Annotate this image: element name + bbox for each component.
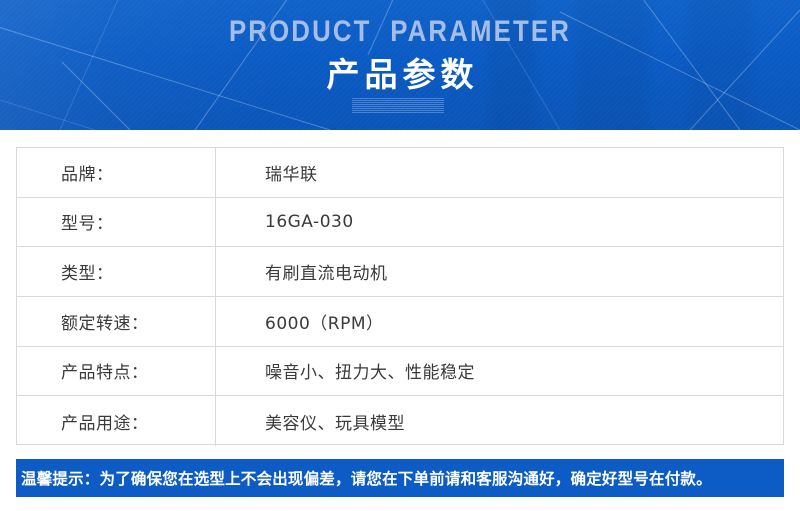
table-row: 额定转速： 6000（RPM） (17, 297, 783, 347)
banner-title-english: PRODUCT PARAMETER (56, 17, 744, 47)
spec-label: 额定转速： (17, 297, 216, 346)
table-row: 品牌： 瑞华联 (17, 148, 783, 198)
spec-value: 瑞华联 (216, 148, 783, 197)
spec-value: 有刷直流电动机 (216, 247, 783, 296)
spec-label: 产品特点： (17, 347, 216, 396)
spec-label: 类型： (17, 247, 216, 296)
table-row: 型号： 16GA-030 (17, 198, 783, 248)
product-parameter-page: PRODUCT PARAMETER 产品参数 品牌： 瑞华联 型号： 16GA-… (0, 0, 800, 511)
notice-text: 温馨提示：为了确保您在选型上不会出现偏差，请您在下单前请和客服沟通好，确定好型号… (21, 467, 712, 489)
notice-banner: 温馨提示：为了确保您在选型上不会出现偏差，请您在下单前请和客服沟通好，确定好型号… (16, 459, 784, 497)
spec-value: 美容仪、玩具模型 (216, 396, 783, 446)
table-row: 类型： 有刷直流电动机 (17, 247, 783, 297)
product-spec-table: 品牌： 瑞华联 型号： 16GA-030 类型： 有刷直流电动机 额定转速： 6… (16, 147, 784, 445)
page-header-banner: PRODUCT PARAMETER 产品参数 (0, 0, 800, 130)
spec-value: 16GA-030 (216, 198, 783, 247)
spec-value: 噪音小、扭力大、性能稳定 (216, 347, 783, 396)
banner-stripe-decoration (352, 98, 444, 114)
spec-label: 产品用途： (17, 396, 216, 446)
spec-label: 品牌： (17, 148, 216, 197)
table-row: 产品特点： 噪音小、扭力大、性能稳定 (17, 347, 783, 397)
banner-title-chinese: 产品参数 (0, 56, 800, 94)
spec-value: 6000（RPM） (216, 297, 783, 346)
spec-label: 型号： (17, 198, 216, 247)
table-row: 产品用途： 美容仪、玩具模型 (17, 396, 783, 446)
